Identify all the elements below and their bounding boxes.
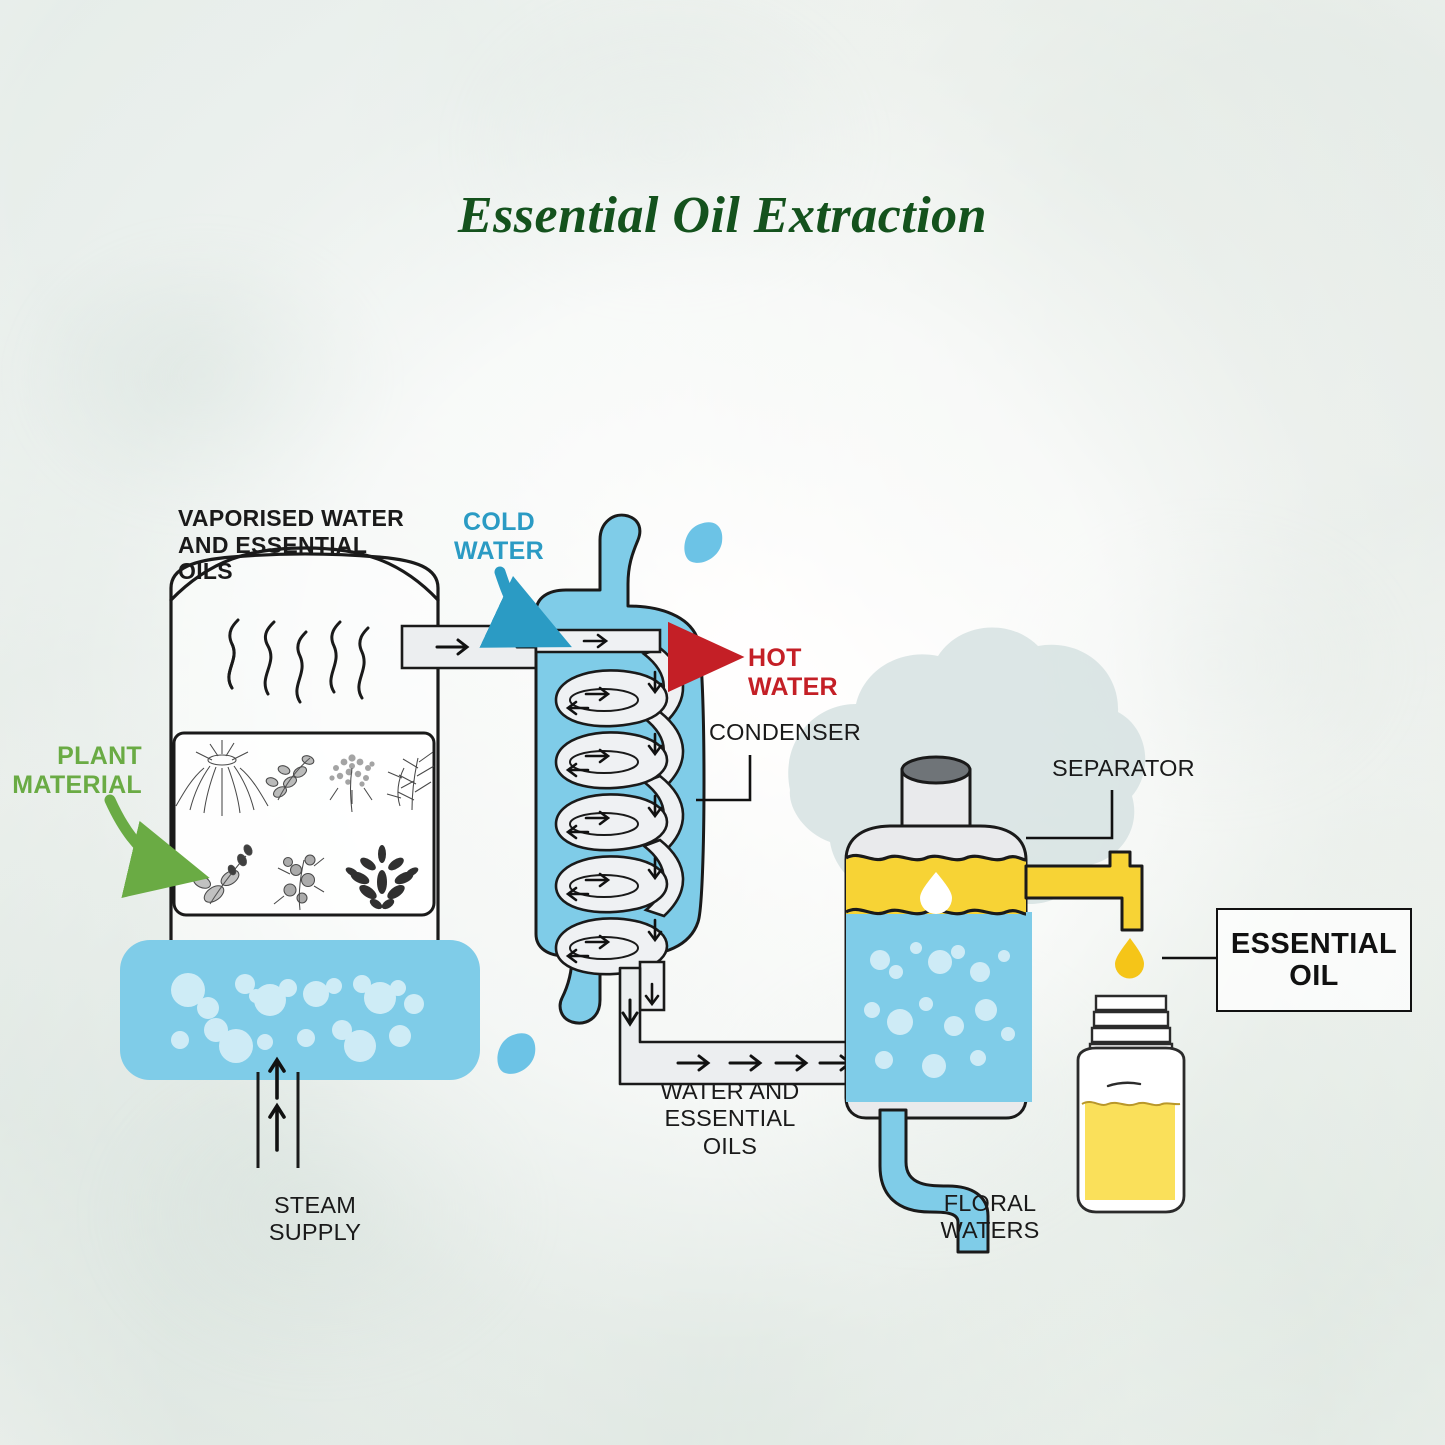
label-water-and-essential-oils: WATER AND ESSENTIAL OILS — [614, 1078, 846, 1160]
falling-oil-droplet-icon — [1115, 938, 1144, 979]
label-water-oils-line2: ESSENTIAL — [614, 1105, 846, 1132]
essential-oil-bottle — [1078, 996, 1184, 1212]
label-hot-water-line2: WATER — [748, 673, 868, 702]
essential-oil-callout-box: ESSENTIAL OIL — [1216, 908, 1412, 1012]
label-floral-waters: FLORAL WATERS — [900, 1190, 1080, 1245]
label-separator: SEPARATOR — [1052, 755, 1195, 782]
label-essential-oil-line1: ESSENTIAL — [1231, 928, 1397, 960]
label-plant-material-line2: MATERIAL — [10, 771, 142, 800]
label-hot-water: HOT WATER — [748, 644, 868, 702]
separator-cap — [902, 757, 970, 783]
still-water — [120, 940, 480, 1080]
label-steam-supply-line1: STEAM — [230, 1192, 400, 1219]
label-essential-oil-line2: OIL — [1231, 960, 1397, 992]
label-steam-supply-line2: SUPPLY — [230, 1219, 400, 1246]
label-vaporised-line2: AND ESSENTIAL OILS — [178, 532, 428, 585]
label-vaporised-water: VAPORISED WATER AND ESSENTIAL OILS — [178, 505, 428, 585]
label-steam-supply: STEAM SUPPLY — [230, 1192, 400, 1247]
label-floral-waters-line2: WATERS — [900, 1217, 1080, 1244]
label-water-oils-line1: WATER AND — [614, 1078, 846, 1105]
label-condenser: CONDENSER — [709, 719, 861, 746]
label-water-oils-line3: OILS — [614, 1133, 846, 1160]
label-plant-material: PLANT MATERIAL — [10, 742, 142, 800]
page-title: Essential Oil Extraction — [0, 186, 1445, 245]
label-cold-water-line2: WATER — [440, 537, 558, 566]
plant-material-basket — [174, 733, 434, 915]
label-plant-material-line1: PLANT — [10, 742, 142, 771]
label-cold-water: COLD WATER — [440, 508, 558, 566]
label-vaporised-line1: VAPORISED WATER — [178, 505, 428, 532]
label-hot-water-line1: HOT — [748, 644, 868, 673]
diagram-canvas: Essential Oil Extraction — [0, 0, 1445, 1445]
label-cold-water-line1: COLD — [440, 508, 558, 537]
label-floral-waters-line1: FLORAL — [900, 1190, 1080, 1217]
